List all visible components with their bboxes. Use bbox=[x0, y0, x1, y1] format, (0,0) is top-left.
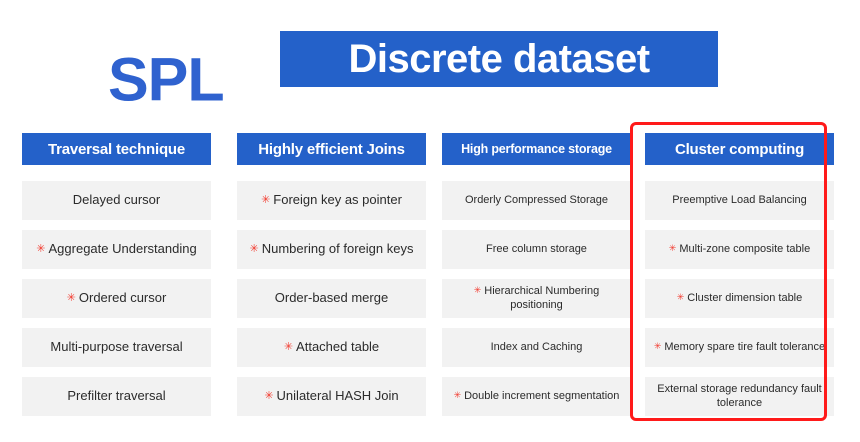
feature-cell-label: External storage redundancy fault tolera… bbox=[657, 383, 822, 409]
feature-cell[interactable]: ✳Unilateral HASH Join bbox=[237, 377, 426, 416]
feature-cell-content: ✳Double increment segmentation bbox=[454, 390, 620, 404]
column-cell-list: Delayed cursor✳Aggregate Understanding✳O… bbox=[22, 181, 211, 416]
red-asterisk-icon: ✳ bbox=[474, 285, 482, 296]
red-asterisk-icon: ✳ bbox=[677, 292, 685, 303]
column-header[interactable]: High performance storage bbox=[442, 133, 631, 165]
feature-cell[interactable]: ✳Double increment segmentation bbox=[442, 377, 631, 416]
feature-cell-content: Orderly Compressed Storage bbox=[465, 194, 608, 208]
feature-cell[interactable]: ✳Multi-zone composite table bbox=[645, 230, 834, 269]
red-asterisk-icon: ✳ bbox=[669, 243, 677, 254]
red-asterisk-icon: ✳ bbox=[36, 244, 45, 255]
feature-column: Highly efficient Joins✳Foreign key as po… bbox=[237, 133, 426, 426]
feature-cell-label: Hierarchical Numbering positioning bbox=[484, 285, 599, 311]
feature-cell-content: ✳Foreign key as pointer bbox=[261, 193, 402, 208]
feature-cell-label: Memory spare tire fault tolerance bbox=[664, 341, 825, 353]
feature-cell-content: Multi-purpose traversal bbox=[50, 340, 182, 355]
feature-cell-label: Unilateral HASH Join bbox=[277, 388, 399, 403]
feature-cell-label: Double increment segmentation bbox=[464, 390, 619, 402]
red-asterisk-icon: ✳ bbox=[654, 341, 662, 352]
feature-cell-content: ✳Multi-zone composite table bbox=[669, 243, 810, 257]
red-asterisk-icon: ✳ bbox=[284, 342, 293, 353]
feature-cell-content: Free column storage bbox=[486, 243, 587, 257]
feature-cell-label: Preemptive Load Balancing bbox=[672, 194, 807, 206]
feature-cell-label: Multi-zone composite table bbox=[679, 243, 810, 255]
feature-cell-content: ✳Cluster dimension table bbox=[677, 292, 803, 306]
feature-cell-label: Prefilter traversal bbox=[67, 388, 165, 403]
feature-cell-content: Prefilter traversal bbox=[67, 389, 165, 404]
red-asterisk-icon: ✳ bbox=[264, 391, 273, 402]
feature-cell[interactable]: Delayed cursor bbox=[22, 181, 211, 220]
feature-cell-content: ✳Numbering of foreign keys bbox=[250, 242, 414, 257]
feature-cell[interactable]: ✳Hierarchical Numbering positioning bbox=[442, 279, 631, 318]
feature-cell-label: Index and Caching bbox=[491, 341, 583, 353]
brand-logo-spl: SPL bbox=[108, 50, 224, 111]
title-row: SPL Discrete dataset bbox=[0, 24, 860, 94]
feature-cell-label: Delayed cursor bbox=[73, 192, 160, 207]
feature-cell-content: ✳Attached table bbox=[284, 340, 379, 355]
feature-cell-content: Preemptive Load Balancing bbox=[672, 194, 807, 208]
feature-cell-label: Cluster dimension table bbox=[687, 292, 802, 304]
feature-cell-label: Numbering of foreign keys bbox=[262, 241, 414, 256]
feature-cell[interactable]: Free column storage bbox=[442, 230, 631, 269]
feature-cell[interactable]: ✳Aggregate Understanding bbox=[22, 230, 211, 269]
red-asterisk-icon: ✳ bbox=[250, 244, 259, 255]
column-cell-list: ✳Foreign key as pointer✳Numbering of for… bbox=[237, 181, 426, 416]
red-asterisk-icon: ✳ bbox=[261, 195, 270, 206]
feature-cell-content: Order-based merge bbox=[275, 291, 388, 306]
feature-cell[interactable]: Order-based merge bbox=[237, 279, 426, 318]
column-cell-list: Preemptive Load Balancing✳Multi-zone com… bbox=[645, 181, 834, 416]
red-asterisk-icon: ✳ bbox=[67, 293, 76, 304]
feature-cell-label: Foreign key as pointer bbox=[273, 192, 402, 207]
feature-cell[interactable]: ✳Cluster dimension table bbox=[645, 279, 834, 318]
feature-cell[interactable]: Multi-purpose traversal bbox=[22, 328, 211, 367]
column-header[interactable]: Traversal technique bbox=[22, 133, 211, 165]
red-asterisk-icon: ✳ bbox=[454, 390, 462, 401]
feature-cell[interactable]: ✳Ordered cursor bbox=[22, 279, 211, 318]
feature-cell-label: Order-based merge bbox=[275, 290, 388, 305]
feature-cell-content: ✳Memory spare tire fault tolerance bbox=[654, 341, 825, 355]
feature-columns: Traversal techniqueDelayed cursor✳Aggreg… bbox=[0, 133, 860, 433]
feature-column: High performance storageOrderly Compress… bbox=[442, 133, 631, 426]
feature-column: Cluster computingPreemptive Load Balanci… bbox=[645, 133, 834, 426]
feature-cell-label: Free column storage bbox=[486, 243, 587, 255]
feature-cell[interactable]: External storage redundancy fault tolera… bbox=[645, 377, 834, 416]
feature-cell[interactable]: ✳Foreign key as pointer bbox=[237, 181, 426, 220]
feature-column: Traversal techniqueDelayed cursor✳Aggreg… bbox=[22, 133, 211, 426]
feature-cell[interactable]: ✳Attached table bbox=[237, 328, 426, 367]
page-title: Discrete dataset bbox=[280, 39, 718, 79]
feature-cell-content: ✳Hierarchical Numbering positioning bbox=[447, 285, 626, 312]
feature-cell[interactable]: Orderly Compressed Storage bbox=[442, 181, 631, 220]
feature-cell-content: ✳Ordered cursor bbox=[67, 291, 167, 306]
feature-cell-label: Multi-purpose traversal bbox=[50, 339, 182, 354]
column-header[interactable]: Cluster computing bbox=[645, 133, 834, 165]
feature-cell-content: Delayed cursor bbox=[73, 193, 160, 208]
feature-cell-label: Attached table bbox=[296, 339, 379, 354]
column-cell-list: Orderly Compressed StorageFree column st… bbox=[442, 181, 631, 416]
feature-cell[interactable]: Preemptive Load Balancing bbox=[645, 181, 834, 220]
feature-cell-label: Orderly Compressed Storage bbox=[465, 194, 608, 206]
feature-cell[interactable]: ✳Numbering of foreign keys bbox=[237, 230, 426, 269]
feature-cell-content: Index and Caching bbox=[491, 341, 583, 355]
column-header[interactable]: Highly efficient Joins bbox=[237, 133, 426, 165]
feature-cell-label: Aggregate Understanding bbox=[49, 241, 197, 256]
feature-cell-content: ✳Aggregate Understanding bbox=[36, 242, 196, 257]
feature-cell[interactable]: Index and Caching bbox=[442, 328, 631, 367]
feature-cell-label: Ordered cursor bbox=[79, 290, 166, 305]
title-banner: Discrete dataset bbox=[280, 31, 718, 87]
feature-cell[interactable]: ✳Memory spare tire fault tolerance bbox=[645, 328, 834, 367]
feature-cell-content: External storage redundancy fault tolera… bbox=[650, 383, 829, 410]
feature-cell-content: ✳Unilateral HASH Join bbox=[264, 389, 398, 404]
feature-cell[interactable]: Prefilter traversal bbox=[22, 377, 211, 416]
